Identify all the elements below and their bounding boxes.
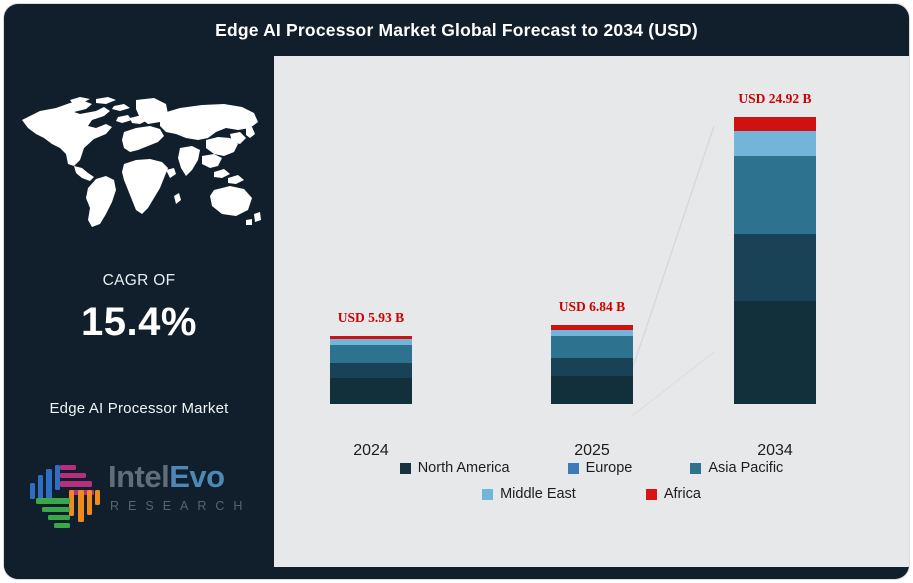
- card-title-bar: Edge AI Processor Market Global Forecast…: [4, 4, 909, 56]
- intelevo-logo-icon: [26, 455, 104, 533]
- bar-segment-europe[interactable]: [734, 234, 816, 301]
- legend-label: Middle East: [500, 486, 576, 502]
- bar-segment-africa[interactable]: [734, 117, 816, 131]
- bar-segment-north-america[interactable]: [734, 301, 816, 404]
- cagr-value: 15.4%: [4, 300, 274, 345]
- legend-swatch-icon: [568, 463, 579, 474]
- bar-segment-north-america[interactable]: [551, 376, 633, 404]
- chart-panel: USD 5.93 BUSD 6.84 BUSD 24.92 B 20242025…: [274, 56, 909, 567]
- legend-swatch-icon: [400, 463, 411, 474]
- bar-segment-asia-pacific[interactable]: [734, 156, 816, 234]
- bar-total-label: USD 6.84 B: [517, 299, 667, 315]
- legend-swatch-icon: [646, 489, 657, 500]
- logo-word-evo: Evo: [169, 459, 224, 494]
- market-name: Edge AI Processor Market: [4, 400, 274, 417]
- logo-word-intel: Intel: [108, 459, 169, 494]
- legend-item-asia-pacific[interactable]: Asia Pacific: [690, 460, 783, 476]
- bar-segment-middle-east[interactable]: [734, 131, 816, 157]
- bar-stack: [330, 336, 412, 404]
- legend-swatch-icon: [482, 489, 493, 500]
- category-label-2024: 2024: [296, 442, 446, 460]
- bar-segment-europe[interactable]: [551, 358, 633, 377]
- left-info-panel: CAGR OF 15.4% Edge AI Processor Market: [4, 56, 274, 579]
- stacked-bar-plot: USD 5.93 BUSD 6.84 BUSD 24.92 B: [274, 56, 909, 436]
- legend-label: Asia Pacific: [708, 460, 783, 476]
- brand-logo: IntelEvo RESEARCH: [26, 451, 262, 537]
- legend-row-secondary: Middle EastAfrica: [274, 486, 909, 502]
- legend-label: North America: [418, 460, 510, 476]
- legend-item-north-america[interactable]: North America: [400, 460, 510, 476]
- bar-total-label: USD 24.92 B: [700, 91, 850, 107]
- bar-total-label: USD 5.93 B: [296, 310, 446, 326]
- bar-segment-asia-pacific[interactable]: [551, 336, 633, 358]
- legend-label: Africa: [664, 486, 701, 502]
- category-label-2034: 2034: [700, 442, 850, 460]
- legend-label: Europe: [586, 460, 633, 476]
- legend-item-middle-east[interactable]: Middle East: [482, 486, 576, 502]
- legend-item-europe[interactable]: Europe: [568, 460, 633, 476]
- bar-stack: [734, 117, 816, 404]
- bar-segment-north-america[interactable]: [330, 378, 412, 404]
- legend-item-africa[interactable]: Africa: [646, 486, 701, 502]
- page-title: Edge AI Processor Market Global Forecast…: [215, 20, 698, 41]
- logo-wordmark: IntelEvo: [108, 461, 225, 492]
- world-map-icon: [18, 94, 262, 230]
- cagr-label: CAGR OF: [4, 272, 274, 290]
- logo-subtitle: RESEARCH: [110, 499, 251, 513]
- bar-segment-asia-pacific[interactable]: [330, 345, 412, 363]
- bar-segment-europe[interactable]: [330, 363, 412, 378]
- legend-swatch-icon: [690, 463, 701, 474]
- legend-row-primary: North AmericaEuropeAsia Pacific: [274, 460, 909, 476]
- category-label-2025: 2025: [517, 442, 667, 460]
- bar-stack: [551, 325, 633, 404]
- chart-legend: North AmericaEuropeAsia Pacific Middle E…: [274, 460, 909, 512]
- chart-card: Edge AI Processor Market Global Forecast…: [4, 4, 909, 579]
